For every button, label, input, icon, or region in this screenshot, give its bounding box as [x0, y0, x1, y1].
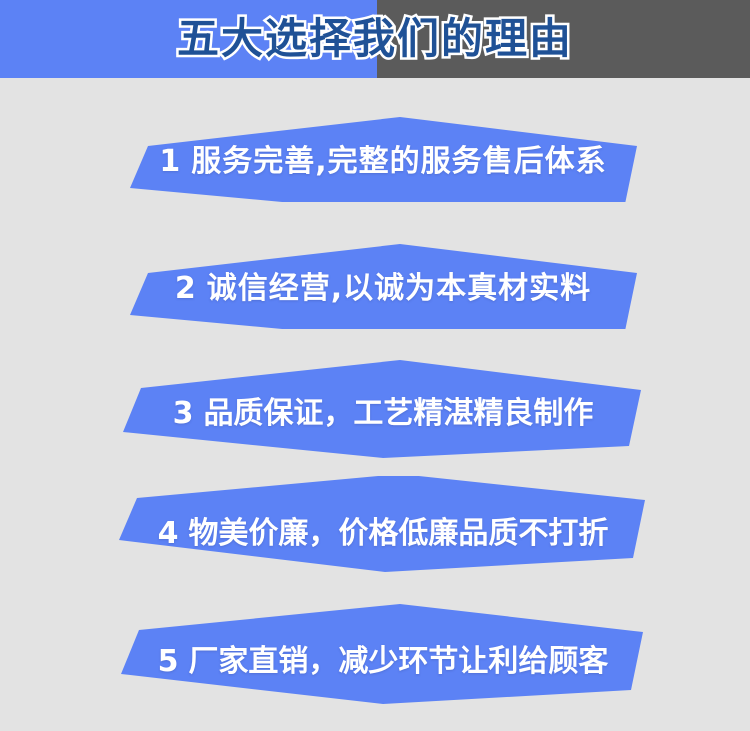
reason-text-1: 1 服务完善,完整的服务售后体系	[113, 94, 653, 216]
reason-text-2: 2 诚信经营,以诚为本真材实料	[113, 221, 653, 343]
reason-index-3: 3	[173, 399, 194, 429]
reason-index-1: 1	[159, 147, 181, 177]
reason-label-1: 服务完善,完整的服务售后体系	[191, 147, 606, 177]
reason-label-2: 诚信经营,以诚为本真材实料	[207, 274, 591, 304]
reason-label-5: 厂家直销，减少环节让利给顾客	[188, 647, 608, 677]
reasons-list: 1 服务完善,完整的服务售后体系 2 诚信经营,以诚为本真材实料 3 品质保证，…	[0, 78, 750, 731]
reason-index-4: 4	[158, 519, 179, 549]
reason-index-5: 5	[158, 647, 179, 677]
promo-page: 五大选择我们的理由 1 服务完善,完整的服务售后体系 2 诚信经营,以诚为本真材…	[0, 0, 750, 731]
page-header: 五大选择我们的理由	[0, 0, 750, 78]
reason-item-1[interactable]: 1 服务完善,完整的服务售后体系	[113, 94, 653, 202]
reason-item-5[interactable]: 5 厂家直销，减少环节让利给顾客	[113, 602, 653, 710]
reason-text-3: 3 品质保证，工艺精湛精良制作	[113, 350, 653, 468]
reason-item-3[interactable]: 3 品质保证，工艺精湛精良制作	[113, 350, 653, 458]
reason-item-2[interactable]: 2 诚信经营,以诚为本真材实料	[113, 221, 653, 329]
reason-index-2: 2	[175, 274, 197, 304]
reason-text-4: 4 物美价廉，价格低廉品质不打折	[113, 476, 653, 588]
reason-text-5: 5 厂家直销，减少环节让利给顾客	[113, 602, 653, 716]
reason-label-3: 品质保证，工艺精湛精良制作	[203, 399, 593, 429]
page-title: 五大选择我们的理由	[0, 0, 750, 78]
reason-label-4: 物美价廉，价格低廉品质不打折	[188, 519, 608, 549]
reason-item-4[interactable]: 4 物美价廉，价格低廉品质不打折	[113, 476, 653, 584]
